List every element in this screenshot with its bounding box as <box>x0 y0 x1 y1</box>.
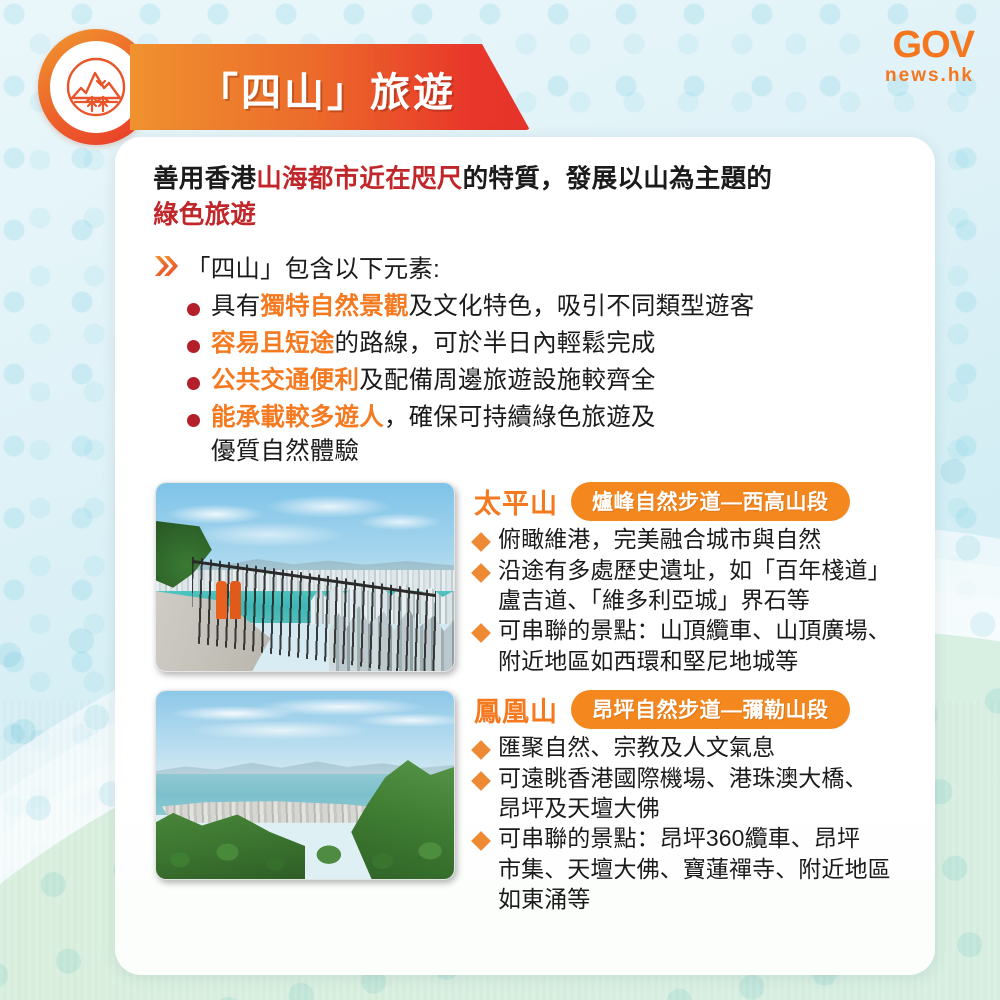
element-text: 容易且短途的路線，可於半日內輕鬆完成 <box>211 327 656 361</box>
mountain-point: 可串聯的景點：山頂纜車、山頂廣場、 附近地區如西環和堅尼地城等 <box>498 615 891 676</box>
mountain-point: 可串聯的景點：昂坪360纜車、昂坪 市集、天壇大佛、寶蓮禪寺、附近地區 如東涌等 <box>498 823 891 914</box>
lead-part1: 善用香港 <box>153 165 256 193</box>
lead-part2: 的特質，發展以山為主題的 <box>463 165 773 193</box>
list-item: 能承載較多遊人，確保可持續綠色旅遊及 優質自然體驗 <box>187 401 909 469</box>
list-item: 具有獨特自然景觀及文化特色，吸引不同類型遊客 <box>187 290 909 324</box>
brand-logo-inner <box>50 41 142 133</box>
mountain-points-list: 匯聚自然、宗教及人文氣息 可遠眺香港國際機場、港珠澳大橋、 昂坪及天壇大佛 可串… <box>474 732 909 914</box>
list-item: 俯瞰維港，完美融合城市與自然 <box>474 524 909 554</box>
list-item: 沿途有多處歷史遺址，如「百年棧道」 盧吉道、「維多利亞城」界石等 <box>474 555 909 616</box>
content-card: 善用香港山海都市近在咫尺的特質，發展以山為主題的 綠色旅遊 「四山」包含以下元素… <box>115 137 935 975</box>
diamond-bullet-icon <box>471 771 491 791</box>
govnews-logo: GOV news.hk <box>885 26 974 85</box>
bullet-dot-icon <box>187 303 200 316</box>
header: 「四山」旅遊 GOV news.hk <box>0 0 1000 150</box>
elements-heading-text: 「四山」包含以下元素: <box>186 250 440 285</box>
mountain-name: 太平山 <box>474 482 558 521</box>
diamond-bullet-icon <box>471 624 491 644</box>
mountain-name: 鳳凰山 <box>474 690 558 729</box>
list-item: 可串聯的景點：昂坪360纜車、昂坪 市集、天壇大佛、寶蓮禪寺、附近地區 如東涌等 <box>474 823 909 914</box>
element-text: 能承載較多遊人，確保可持續綠色旅遊及 優質自然體驗 <box>211 401 656 469</box>
govnews-logo-top: GOV <box>885 26 974 64</box>
photo-victoria-harbour <box>155 482 455 672</box>
list-item: 容易且短途的路線，可於半日內輕鬆完成 <box>187 327 909 361</box>
mountain-section-taiping: 太平山 爐峰自然步道—西高山段 俯瞰維港，完美融合城市與自然 沿途有多處歷史遺址… <box>153 482 909 676</box>
list-item: 公共交通便利及配備周邊旅遊設施較齊全 <box>187 364 909 398</box>
mountain-title-row: 鳳凰山 昂坪自然步道—彌勒山段 <box>474 690 909 729</box>
trail-badge: 昂坪自然步道—彌勒山段 <box>571 690 850 729</box>
mountain-points-list: 俯瞰維港，完美融合城市與自然 沿途有多處歷史遺址，如「百年棧道」 盧吉道、「維多… <box>474 524 909 676</box>
mountain-point: 可遠眺香港國際機場、港珠澳大橋、 昂坪及天壇大佛 <box>498 763 868 824</box>
lead-highlight2: 綠色旅遊 <box>153 201 256 229</box>
diamond-bullet-icon <box>471 831 491 851</box>
bullet-dot-icon <box>187 377 200 390</box>
lead-statement: 善用香港山海都市近在咫尺的特質，發展以山為主題的 綠色旅遊 <box>153 161 909 233</box>
lead-highlight1: 山海都市近在咫尺 <box>256 165 462 193</box>
mountain-point: 俯瞰維港，完美融合城市與自然 <box>498 524 821 554</box>
list-item: 匯聚自然、宗教及人文氣息 <box>474 732 909 762</box>
double-chevron-right-icon <box>153 253 179 279</box>
mountain-point: 匯聚自然、宗教及人文氣息 <box>498 732 775 762</box>
mountain-section-lantau-peak: 鳳凰山 昂坪自然步道—彌勒山段 匯聚自然、宗教及人文氣息 可遠眺香港國際機場、港… <box>153 690 909 914</box>
diamond-bullet-icon <box>471 740 491 760</box>
photo-ngong-ping-view <box>155 690 455 880</box>
diamond-bullet-icon <box>471 532 491 552</box>
page-title: 「四山」旅遊 <box>198 60 456 118</box>
govnews-logo-bottom: news.hk <box>885 66 974 85</box>
diamond-bullet-icon <box>471 563 491 583</box>
trail-badge: 爐峰自然步道—西高山段 <box>571 482 850 521</box>
mountain-tree-icon <box>63 54 129 120</box>
bullet-dot-icon <box>187 340 200 353</box>
list-item: 可遠眺香港國際機場、港珠澳大橋、 昂坪及天壇大佛 <box>474 763 909 824</box>
elements-heading-row: 「四山」包含以下元素: <box>153 250 909 285</box>
mountain-title-row: 太平山 爐峰自然步道—西高山段 <box>474 482 909 521</box>
list-item: 可串聯的景點：山頂纜車、山頂廣場、 附近地區如西環和堅尼地城等 <box>474 615 909 676</box>
mountain-point: 沿途有多處歷史遺址，如「百年棧道」 盧吉道、「維多利亞城」界石等 <box>498 555 891 616</box>
element-text: 公共交通便利及配備周邊旅遊設施較齊全 <box>211 364 656 398</box>
element-text: 具有獨特自然景觀及文化特色，吸引不同類型遊客 <box>211 290 754 324</box>
elements-list: 具有獨特自然景觀及文化特色，吸引不同類型遊客 容易且短途的路線，可於半日內輕鬆完… <box>187 290 909 468</box>
bullet-dot-icon <box>187 414 200 427</box>
